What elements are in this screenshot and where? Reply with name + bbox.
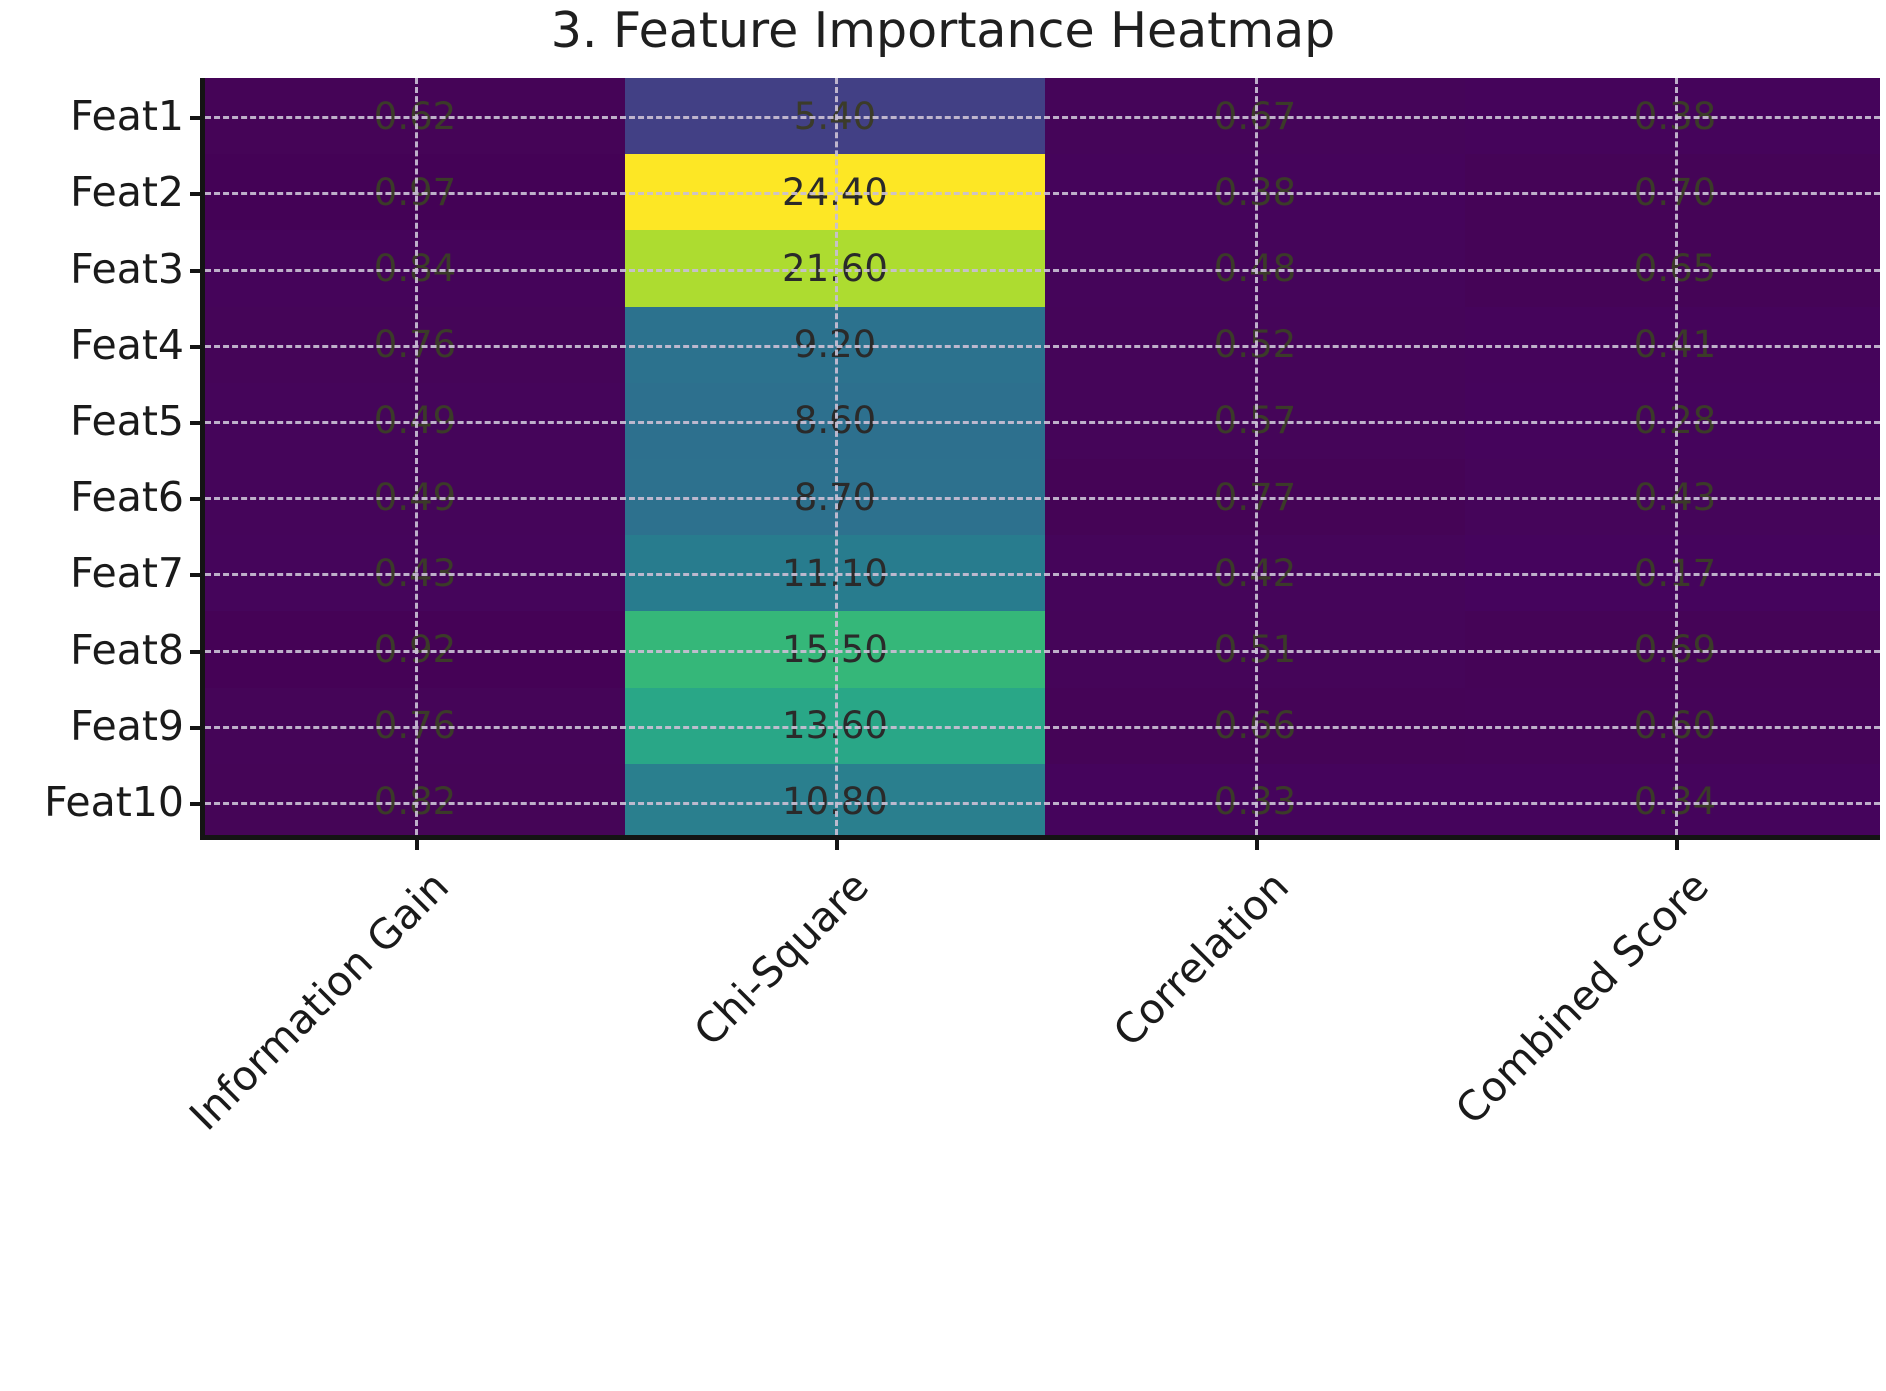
gridline-horizontal [205, 192, 1880, 195]
gridline-horizontal [205, 116, 1880, 119]
y-axis-tick-label: Feat9 [0, 702, 184, 750]
gridline-horizontal [205, 497, 1880, 500]
y-axis-tick [190, 650, 205, 654]
y-axis-tick-label: Feat3 [0, 245, 184, 293]
figure-canvas: 3. Feature Importance Heatmap 0.625.400.… [0, 0, 1886, 1215]
y-axis-tick-label: Feat8 [0, 626, 184, 674]
gridline-horizontal [205, 726, 1880, 729]
y-axis-tick-label: Feat10 [0, 778, 184, 826]
y-axis-tick-label: Feat5 [0, 397, 184, 445]
y-axis-tick [190, 497, 205, 501]
gridline-vertical [835, 78, 838, 835]
x-axis-tick-label: Information Gain [0, 862, 458, 1391]
gridline-horizontal [205, 650, 1880, 653]
x-axis-tick-label: Chi-Square [349, 862, 878, 1391]
gridline-vertical [1255, 78, 1258, 835]
y-axis-tick [190, 421, 205, 425]
y-axis-tick [190, 192, 205, 196]
gridline-horizontal [205, 802, 1880, 805]
gridline-horizontal [205, 573, 1880, 576]
x-axis-tick [415, 835, 419, 850]
y-axis-tick-label: Feat7 [0, 549, 184, 597]
x-axis-tick-label: Correlation [769, 862, 1298, 1391]
heatmap-axes: 0.625.400.670.380.9724.400.380.700.8421.… [200, 78, 1880, 840]
y-axis-tick [190, 269, 205, 273]
gridline-vertical [1675, 78, 1678, 835]
gridline-layer: 0.625.400.670.380.9724.400.380.700.8421.… [205, 78, 1880, 835]
y-axis-tick-label: Feat4 [0, 321, 184, 369]
x-axis-tick [835, 835, 839, 850]
x-axis-tick [1675, 835, 1679, 850]
gridline-horizontal [205, 269, 1880, 272]
y-axis-tick-label: Feat6 [0, 473, 184, 521]
gridline-horizontal [205, 345, 1880, 348]
x-axis-tick [1255, 835, 1259, 850]
y-axis-tick [190, 345, 205, 349]
chart-title: 3. Feature Importance Heatmap [0, 2, 1886, 59]
y-axis-tick-label: Feat1 [0, 92, 184, 140]
gridline-vertical [415, 78, 418, 835]
y-axis-tick-label: Feat2 [0, 168, 184, 216]
heatmap-cell: 0.34 [1465, 764, 1880, 835]
gridline-horizontal [205, 421, 1880, 424]
y-axis-tick [190, 726, 205, 730]
y-axis-tick [190, 116, 205, 120]
y-axis-tick [190, 802, 205, 806]
x-axis-tick-label: Combined Score [1189, 862, 1718, 1391]
y-axis-tick [190, 573, 205, 577]
